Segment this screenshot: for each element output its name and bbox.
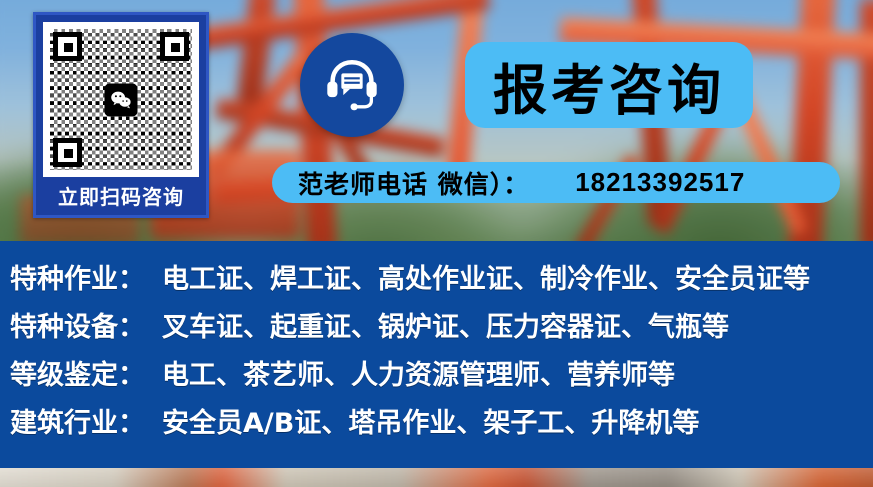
category-name: 特种作业：	[10, 257, 156, 296]
category-name: 特种设备：	[10, 305, 156, 344]
list-item: 等级鉴定： 电工、茶艺师、人力资源管理师、营养师等	[10, 353, 873, 401]
qr-matrix	[50, 29, 192, 170]
category-items: 安全员A/B证、塔吊作业、架子工、升降机等	[162, 401, 699, 440]
list-item: 特种设备： 叉车证、起重证、锅炉证、压力容器证、气瓶等	[10, 305, 873, 353]
contact-label: 范老师电话 微信）：	[298, 165, 529, 201]
bottom-strip-shade	[0, 468, 873, 487]
headset-support-icon	[300, 33, 404, 137]
list-item: 特种作业： 电工证、焊工证、高处作业证、制冷作业、安全员证等	[10, 257, 873, 305]
qr-code-image[interactable]	[43, 22, 199, 177]
page-title: 报考咨询	[493, 46, 725, 125]
promo-banner: 立即扫码咨询 报考咨询 范老师电话 微信）： 18213392517 特种作业：…	[0, 0, 873, 487]
category-items: 电工证、焊工证、高处作业证、制冷作业、安全员证等	[162, 257, 810, 296]
contact-phone-number[interactable]: 18213392517	[575, 167, 745, 198]
contact-pill[interactable]: 范老师电话 微信）： 18213392517	[272, 162, 840, 203]
category-name: 等级鉴定：	[10, 353, 156, 392]
list-item: 建筑行业： 安全员A/B证、塔吊作业、架子工、升降机等	[10, 401, 873, 449]
qr-finder-bottom-left	[53, 138, 82, 167]
qr-finder-top-right	[160, 32, 189, 61]
category-items: 叉车证、起重证、锅炉证、压力容器证、气瓶等	[162, 305, 729, 344]
bottom-photo-strip	[0, 468, 873, 487]
category-items: 电工、茶艺师、人力资源管理师、营养师等	[162, 353, 675, 392]
wechat-icon	[105, 83, 138, 116]
qr-code-card[interactable]: 立即扫码咨询	[33, 12, 209, 218]
qr-label: 立即扫码咨询	[43, 177, 199, 217]
headline-pill: 报考咨询	[465, 42, 753, 128]
category-name: 建筑行业：	[10, 401, 156, 440]
qr-finder-top-left	[53, 32, 82, 61]
certificate-category-list: 特种作业： 电工证、焊工证、高处作业证、制冷作业、安全员证等 特种设备： 叉车证…	[0, 241, 873, 468]
